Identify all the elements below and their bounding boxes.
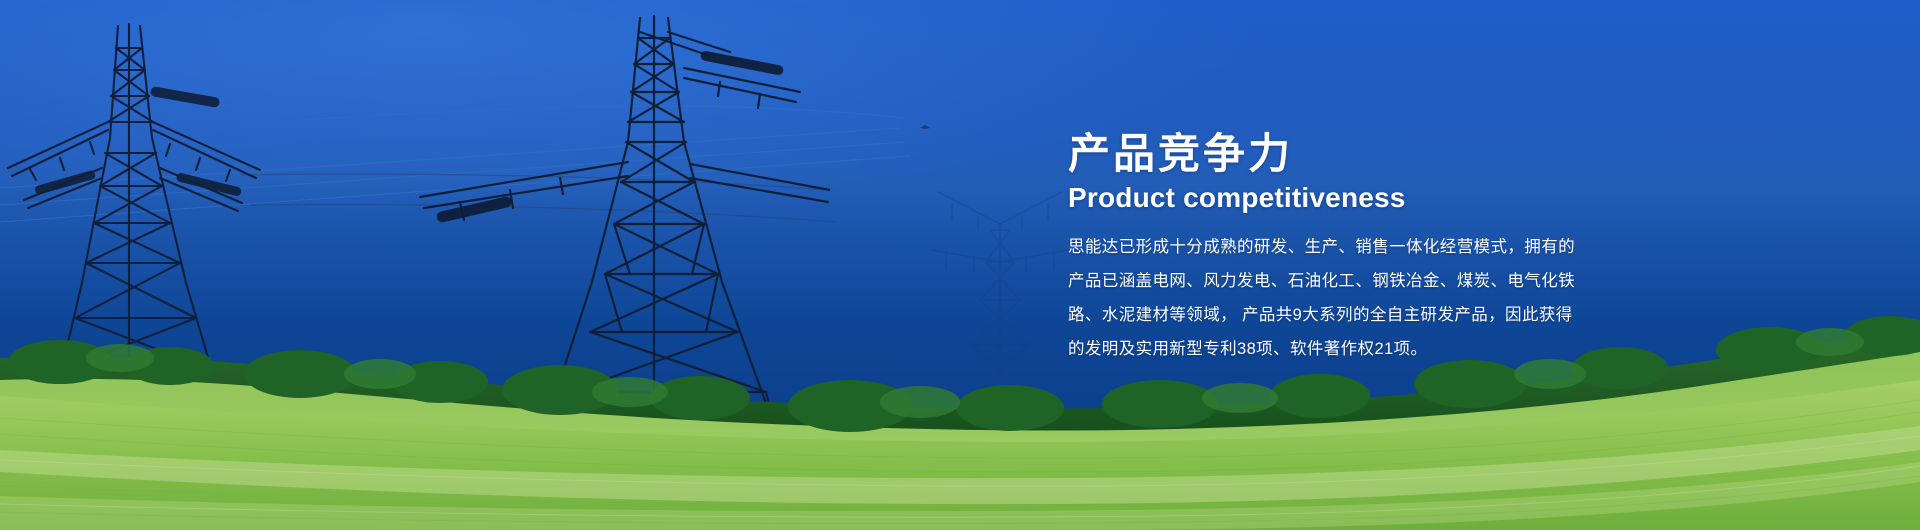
- product-competitiveness-banner: 产品竞争力 Product competitiveness 思能达已形成十分成熟…: [0, 0, 1920, 530]
- meadow-landscape: [0, 300, 1920, 530]
- banner-copy: 产品竞争力 Product competitiveness 思能达已形成十分成熟…: [1068, 130, 1628, 366]
- description-line: 产品已涵盖电网、风力发电、石油化工、钢铁冶金、煤炭、电气化铁: [1068, 264, 1628, 298]
- description-line: 的发明及实用新型专利38项、软件著作权21项。: [1068, 332, 1628, 366]
- description-line: 思能达已形成十分成熟的研发、生产、销售一体化经营模式，拥有的: [1068, 230, 1628, 264]
- banner-description: 思能达已形成十分成熟的研发、生产、销售一体化经营模式，拥有的 产品已涵盖电网、风…: [1068, 230, 1628, 366]
- page-title-en: Product competitiveness: [1068, 181, 1628, 214]
- description-line: 路、水泥建材等领域， 产品共9大系列的全自主研发产品，因此获得: [1068, 298, 1628, 332]
- bird-icon: [920, 125, 930, 129]
- page-title-cn: 产品竞争力: [1068, 130, 1628, 177]
